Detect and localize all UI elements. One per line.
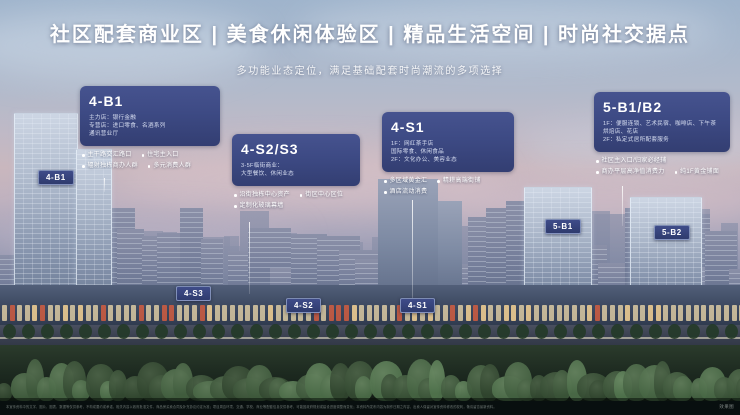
tag-label: 商办平层高净值消费力 (602, 168, 665, 177)
shop-window-light (260, 305, 265, 321)
floor-line (117, 268, 144, 269)
shop-window-light (131, 305, 136, 321)
list-item: 主干路交汇路口 (82, 151, 132, 160)
floor-line (525, 207, 591, 208)
floor-line (248, 257, 291, 258)
shop-window-light (222, 305, 227, 321)
shop-window-light (108, 305, 113, 321)
shop-window-light (276, 305, 281, 321)
shop-window-light (48, 305, 53, 321)
card-description: 3-5F临街商业： 大型餐饮、休闲业态 (241, 162, 351, 178)
floor-line (317, 240, 361, 241)
shop-window-light (336, 305, 341, 321)
shop-window-light (549, 305, 554, 321)
floor-line (525, 237, 591, 238)
verge-tree (193, 324, 206, 339)
bullet-dot-icon (234, 194, 237, 197)
verge-tree (592, 324, 605, 339)
floor-line (248, 262, 291, 263)
verge-tree (288, 324, 301, 339)
bullet-dot-icon (596, 160, 599, 163)
building-pin-5-b1[interactable]: 5-B1 (545, 219, 581, 234)
disclaimer-text: 本宣传资料中的文字、图片、图表、数据等仅供参考，不构成要约或承诺，相关内容以政府… (0, 404, 719, 409)
verge-tree (668, 324, 681, 339)
shop-window-light (367, 305, 372, 321)
shop-window-light (488, 305, 493, 321)
mullion-line (41, 114, 42, 302)
shop-window-light (382, 305, 387, 321)
verge-tree (345, 324, 358, 339)
verge-tree (630, 324, 643, 339)
card-header: 5-B1/B2 1F：便服连锁、艺术民宿、咖啡店、下午茶 烘焙店、花店 2F：私… (594, 92, 730, 152)
list-item: 精耕高端街铺 (437, 177, 480, 186)
shop-window-light (215, 305, 220, 321)
floor-line (248, 252, 291, 253)
shop-window-light (352, 305, 357, 321)
shop-window-light (177, 305, 182, 321)
card-description: 1F：网红茶手店 国际零食、休闲食品 2F：文化办公、美容业态 (391, 140, 505, 164)
mullion-line (103, 150, 104, 302)
shop-window-light (587, 305, 592, 321)
floor-line (117, 248, 144, 249)
card-title: 4-S1 (391, 118, 505, 136)
shop-window-light (534, 305, 539, 321)
verge-tree (687, 324, 700, 339)
shop-window-light (640, 305, 645, 321)
building-pin-4-s3[interactable]: 4-S3 (176, 286, 211, 301)
shop-window-light (192, 305, 197, 321)
shop-window-light (63, 305, 68, 321)
card-header: 4-S1 1F：网红茶手店 国际零食、休闲食品 2F：文化办公、美容业态 (382, 112, 514, 172)
floor-line (201, 263, 223, 264)
shop-window-light (633, 305, 638, 321)
leader-line (249, 222, 250, 294)
floor-line (117, 238, 144, 239)
page-subtitle: 多功能业态定位，满足基础配套时尚潮流的多项选择 (0, 62, 740, 77)
info-card-4-s2-s3[interactable]: 4-S2/S3 3-5F临街商业： 大型餐饮、休闲业态 沿街独栋中心资产 街区中… (232, 134, 360, 211)
shop-window-light (40, 305, 45, 321)
shop-window-light (678, 305, 683, 321)
floor-line (525, 217, 591, 218)
floor-line (729, 278, 740, 279)
floor-line (180, 277, 203, 278)
tag-label: 沿街独栋中心资产 (240, 191, 290, 200)
shop-window-light (321, 305, 326, 321)
retail-podium (0, 285, 740, 327)
verge-tree (516, 324, 529, 339)
mullion-line (94, 150, 95, 302)
shop-window-light (146, 305, 151, 321)
tag-label: 酒店流动消费 (390, 188, 428, 197)
floor-line (117, 253, 144, 254)
verge-tree (459, 324, 472, 339)
shop-window-light (496, 305, 501, 321)
shop-window-light (238, 305, 243, 321)
mullion-line (50, 114, 51, 302)
bullet-dot-icon (300, 194, 303, 197)
shop-window-light (450, 305, 455, 321)
floor-line (525, 242, 591, 243)
footer-disclaimer-bar: 本宣传资料中的文字、图片、图表、数据等仅供参考，不构成要约或承诺，相关内容以政府… (0, 398, 740, 415)
mullion-line (32, 114, 33, 302)
verge-tree (497, 324, 510, 339)
shop-window-light (116, 305, 121, 321)
shop-window-light (625, 305, 630, 321)
floor-line (705, 250, 737, 251)
mullion-line (85, 150, 86, 302)
tag-label: 主干路交汇路口 (88, 151, 132, 160)
floor-line (180, 212, 203, 213)
shop-window-light (610, 305, 615, 321)
floor-line (180, 257, 203, 258)
tag-label: 辐射独栋商办人群 (88, 162, 138, 171)
floor-line (525, 277, 591, 278)
verge-tree (364, 324, 377, 339)
verge-tree (383, 324, 396, 339)
floor-line (525, 252, 591, 253)
building-pin-4-b1[interactable]: 4-B1 (38, 170, 74, 185)
tag-label: 精耕高端街铺 (443, 177, 481, 186)
floor-line (525, 282, 591, 283)
floor-line (180, 262, 203, 263)
shop-window-light (519, 305, 524, 321)
tag-label: 住宅主入口 (147, 151, 179, 160)
shop-window-light (101, 305, 106, 321)
shop-window-light (473, 305, 478, 321)
shop-window-light (481, 305, 486, 321)
floor-line (180, 282, 203, 283)
shop-window-light (709, 305, 714, 321)
shop-window-light (602, 305, 607, 321)
info-card-5-b1-b2[interactable]: 5-B1/B2 1F：便服连锁、艺术民宿、咖啡店、下午茶 烘焙店、花店 2F：私… (594, 92, 730, 177)
shop-window-light (511, 305, 516, 321)
building-pin-5-b2[interactable]: 5-B2 (654, 225, 690, 240)
shop-window-light (253, 305, 258, 321)
tag-label: 定制化玻璃幕墙 (240, 202, 284, 211)
verge-tree (3, 324, 16, 339)
tag-label: 街区中心区位 (305, 191, 343, 200)
floor-line (180, 252, 203, 253)
floor-line (339, 254, 382, 255)
floor-line (525, 192, 591, 193)
shop-window-light (580, 305, 585, 321)
list-item: 商办平层高净值消费力 (596, 168, 665, 177)
shop-window-light (344, 305, 349, 321)
floor-line (248, 232, 291, 233)
floor-line (117, 258, 144, 259)
shop-window-light (694, 305, 699, 321)
floor-line (525, 257, 591, 258)
rendering-watermark: 效果图 (719, 404, 740, 410)
shop-window-light (572, 305, 577, 321)
promo-rendering-page: 社区配套商业区 | 美食休闲体验区 | 精品生活空间 | 时尚社交据点 多功能业… (0, 0, 740, 415)
floor-line (705, 260, 737, 261)
verge-tree (250, 324, 263, 339)
verge-tree (649, 324, 662, 339)
green-belt (0, 345, 740, 401)
shop-window-light (78, 305, 83, 321)
shop-window-light (618, 305, 623, 321)
building-pin-4-s1[interactable]: 4-S1 (400, 298, 435, 313)
list-item: 酒店流动消费 (384, 188, 427, 197)
card-description: 1F：便服连锁、艺术民宿、咖啡店、下午茶 烘焙店、花店 2F：私定式居所配套服务 (603, 120, 721, 144)
list-item: 沿街独栋中心资产 (234, 191, 290, 200)
bullet-dot-icon (234, 205, 237, 208)
tag-label: 社区主入口/归家必经辅 (602, 157, 667, 166)
verge-tree (231, 324, 244, 339)
card-header: 4-S2/S3 3-5F临街商业： 大型餐饮、休闲业态 (232, 134, 360, 186)
shop-window-light (526, 305, 531, 321)
shop-window-light (17, 305, 22, 321)
info-card-4-b1[interactable]: 4-B1 主力店：银行金融 专营店：进口零食、名酒系列 通讯营业厅 主干路交汇路… (80, 86, 220, 171)
list-item: 定制化玻璃幕墙 (234, 202, 284, 211)
floor-line (525, 212, 591, 213)
floor-line (705, 245, 737, 246)
shop-window-light (93, 305, 98, 321)
list-item: 多区域黄金汇 (384, 177, 427, 186)
shop-window-light (154, 305, 159, 321)
floor-line (201, 273, 223, 274)
bullet-dot-icon (596, 171, 599, 174)
list-item: 住宅主入口 (142, 151, 179, 160)
floor-line (117, 278, 144, 279)
shop-window-light (268, 305, 273, 321)
card-tag-list: 主干路交汇路口 住宅主入口 辐射独栋商办人群 多元消费人群 (80, 151, 220, 171)
verge-tree (307, 324, 320, 339)
floor-line (180, 242, 203, 243)
shop-window-light (724, 305, 729, 321)
verge-tree (269, 324, 282, 339)
floor-line (525, 247, 591, 248)
floor-line (201, 278, 223, 279)
shop-window-light (245, 305, 250, 321)
verge-tree (41, 324, 54, 339)
shop-window-light (686, 305, 691, 321)
verge-tree (79, 324, 92, 339)
floor-line (201, 248, 223, 249)
leader-line (104, 178, 105, 192)
shop-window-light (557, 305, 562, 321)
shop-window-light (25, 305, 30, 321)
verge-tree (573, 324, 586, 339)
floor-line (180, 217, 203, 218)
bullet-dot-icon (82, 165, 85, 168)
card-title: 5-B1/B2 (603, 98, 721, 116)
tag-label: 纯1F黄金铺面 (680, 168, 719, 177)
card-tag-list: 沿街独栋中心资产 街区中心区位 定制化玻璃幕墙 (232, 191, 360, 211)
shop-window-light (139, 305, 144, 321)
shop-window-light (458, 305, 463, 321)
verge-tree (98, 324, 111, 339)
floor-line (525, 197, 591, 198)
page-title: 社区配套商业区 | 美食休闲体验区 | 精品生活空间 | 时尚社交据点 (0, 18, 740, 47)
shop-window-light (200, 305, 205, 321)
floor-line (117, 263, 144, 264)
leader-line (622, 186, 623, 226)
floor-line (525, 202, 591, 203)
floor-line (201, 243, 223, 244)
card-description: 主力店：银行金融 专营店：进口零食、名酒系列 通讯营业厅 (89, 114, 211, 138)
floor-line (248, 237, 291, 238)
shop-window-light (162, 305, 167, 321)
verge-tree (421, 324, 434, 339)
shop-window-light (184, 305, 189, 321)
floor-line (705, 240, 737, 241)
verge-tree (402, 324, 415, 339)
floor-line (180, 237, 203, 238)
floor-line (117, 273, 144, 274)
list-item: 辐射独栋商办人群 (82, 162, 138, 171)
verge-tree (535, 324, 548, 339)
floor-line (705, 255, 737, 256)
verge-tree (706, 324, 719, 339)
shop-window-light (374, 305, 379, 321)
floor-line (180, 227, 203, 228)
shop-window-light (443, 305, 448, 321)
floor-line (201, 268, 223, 269)
mullion-line (23, 114, 24, 302)
card-tag-list: 社区主入口/归家必经辅 商办平层高净值消费力 纯1F黄金铺面 (594, 157, 730, 177)
floor-line (705, 265, 737, 266)
verge-tree (326, 324, 339, 339)
shop-window-light (564, 305, 569, 321)
card-title: 4-S2/S3 (241, 140, 351, 158)
floor-line (317, 245, 361, 246)
verge-tree (117, 324, 130, 339)
card-title: 4-B1 (89, 92, 211, 110)
verge-tree (60, 324, 73, 339)
verge-tree (478, 324, 491, 339)
bullet-dot-icon (148, 165, 151, 168)
tag-label: 多元消费人群 (153, 162, 191, 171)
shop-window-light (10, 305, 15, 321)
building-pin-4-s2[interactable]: 4-S2 (286, 298, 321, 313)
bullet-dot-icon (82, 154, 85, 157)
list-item: 社区主入口/归家必经辅 (596, 157, 666, 166)
list-item: 纯1F黄金铺面 (675, 168, 720, 177)
verge-tree (155, 324, 168, 339)
verge-tree (440, 324, 453, 339)
bullet-dot-icon (384, 191, 387, 194)
leader-line (412, 200, 413, 310)
shop-window-light (230, 305, 235, 321)
shop-window-light (663, 305, 668, 321)
floor-line (525, 262, 591, 263)
mullion-line (68, 114, 69, 302)
floor-line (248, 242, 291, 243)
shop-window-light (390, 305, 395, 321)
floor-line (525, 267, 591, 268)
shop-window-light (716, 305, 721, 321)
floor-line (180, 267, 203, 268)
shop-window-light (671, 305, 676, 321)
shop-window-light (732, 305, 737, 321)
shop-window-light (648, 305, 653, 321)
tower-4-b1 (14, 113, 78, 303)
shop-window-light (207, 305, 212, 321)
card-tag-list: 多区域黄金汇 精耕高端街铺 酒店流动消费 (382, 177, 514, 197)
shop-window-light (542, 305, 547, 321)
floor-line (248, 247, 291, 248)
mullion-line (59, 114, 60, 302)
shop-window-light (701, 305, 706, 321)
info-card-4-s1[interactable]: 4-S1 1F：网红茶手店 国际零食、休闲食品 2F：文化办公、美容业态 多区域… (382, 112, 514, 197)
floor-line (201, 253, 223, 254)
shop-window-light (504, 305, 509, 321)
verge-tree (136, 324, 149, 339)
card-header: 4-B1 主力店：银行金融 专营店：进口零食、名酒系列 通讯营业厅 (80, 86, 220, 146)
floor-line (705, 235, 737, 236)
verge-tree (725, 324, 738, 339)
tower-4-b1-wing (76, 149, 112, 303)
shop-window-light (55, 305, 60, 321)
tag-label: 多区域黄金汇 (390, 177, 428, 186)
floor-line (117, 243, 144, 244)
list-item: 多元消费人群 (148, 162, 191, 171)
shop-window-light (32, 305, 37, 321)
floor-line (180, 272, 203, 273)
floor-line (729, 273, 740, 274)
shop-window-light (595, 305, 600, 321)
bullet-dot-icon (437, 180, 440, 183)
verge-tree (212, 324, 225, 339)
verge-tree (554, 324, 567, 339)
shop-window-light (329, 305, 334, 321)
floor-line (117, 233, 144, 234)
shop-window-light (435, 305, 440, 321)
shop-window-light (2, 305, 7, 321)
floor-line (525, 272, 591, 273)
list-item: 街区中心区位 (300, 191, 343, 200)
floor-line (201, 258, 223, 259)
floor-line (117, 283, 144, 284)
shop-window-light (656, 305, 661, 321)
verge-tree (611, 324, 624, 339)
shop-window-light (124, 305, 129, 321)
shop-window-light (70, 305, 75, 321)
shop-window-light (86, 305, 91, 321)
bullet-dot-icon (675, 171, 678, 174)
shop-window-light (466, 305, 471, 321)
floor-line (180, 247, 203, 248)
floor-line (729, 283, 740, 284)
verge-tree (174, 324, 187, 339)
floor-line (180, 232, 203, 233)
verge-tree (22, 324, 35, 339)
shop-window-light (169, 305, 174, 321)
shop-window-light (359, 305, 364, 321)
bullet-dot-icon (142, 154, 145, 157)
floor-line (180, 222, 203, 223)
bullet-dot-icon (384, 180, 387, 183)
